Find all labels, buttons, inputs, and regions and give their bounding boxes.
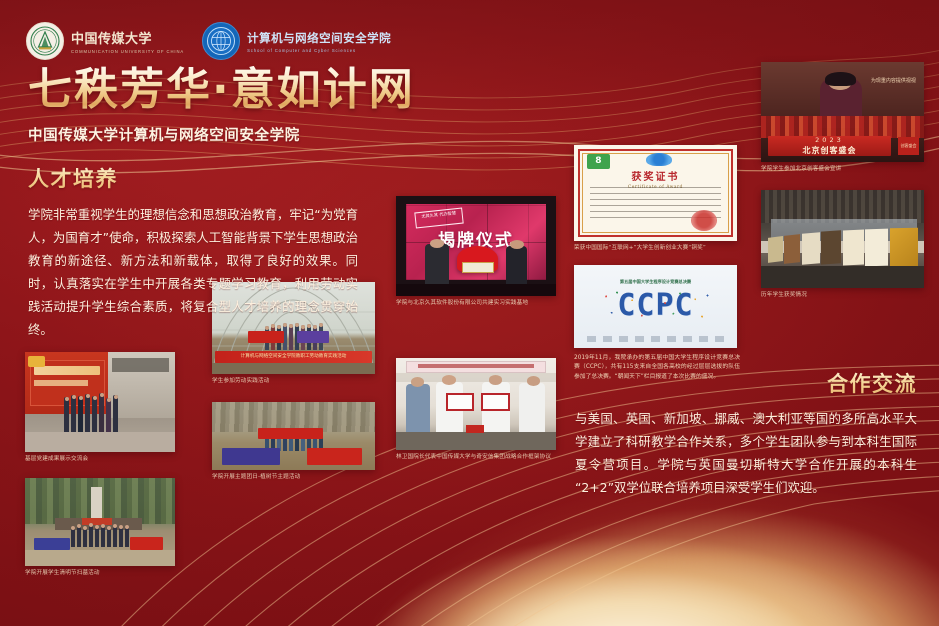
- section-talent-heading: 人才培养: [28, 163, 358, 193]
- photo-party-building-caption: 基层党建成果展示交流会: [25, 455, 175, 463]
- logo-bar: 中国传媒大学 COMMUNICATION UNIVERSITY OF CHINA…: [26, 22, 391, 60]
- photo-tree-planting-day-image: [212, 402, 375, 470]
- photo-award-certificate-caption: 荣获中国国际“互联网+”大学生创新创业大赛“铜奖”: [574, 244, 737, 252]
- photo-tree-planting-day: 学院开展主题团日-植树节主题活动: [212, 402, 375, 470]
- photo-maker-conference: 为现重内容提供视视 2023 北京创客盛会 创客盛会 学院学生参加北京创客盛会宣…: [761, 62, 924, 162]
- photo-award-certificate-image: 8 获奖证书 Certificate of Award: [574, 145, 737, 241]
- photo-signing-ceremony-caption: 林卫国院长代表中国传媒大学与奇安信集团战略合作框架协议: [396, 453, 556, 461]
- photo-award-certificate: 8 获奖证书 Certificate of Award 荣获中国国际“互联网+”…: [574, 145, 737, 241]
- ccpc-description: 2019年11月，我院承办的第五届中国大学生程序设计竞赛总决赛（CCPC），共有…: [574, 354, 740, 382]
- maker-note-text: 为现重内容提供视视: [871, 78, 916, 84]
- photo-award-display: 历年学生获奖情况: [761, 190, 924, 288]
- page-title: 七秩芳华·意如计网: [28, 66, 415, 114]
- cuc-logo: 中国传媒大学 COMMUNICATION UNIVERSITY OF CHINA: [26, 22, 184, 60]
- page-subtitle: 中国传媒大学计算机与网络空间安全学院: [28, 124, 415, 145]
- photo-party-building: 基层党建成果展示交流会: [25, 352, 175, 452]
- photo-unveiling-ceremony: 尤其久其 代办智慧 揭牌仪式 学院与北京久其软件股份有限公司共建实习实践基地: [396, 196, 556, 296]
- photo-maker-conference-image: 为现重内容提供视视 2023 北京创客盛会 创客盛会: [761, 62, 924, 162]
- section-talent-body: 学院非常重视学生的理想信念和思想政治教育，牢记“为党育人，为国育才”使命，积极探…: [28, 204, 358, 342]
- photo-signing-ceremony: 林卫国院长代表中国传媒大学与奇安信集团战略合作框架协议: [396, 358, 556, 450]
- school-logo: 计算机与网络空间安全学院 School of Computer and Cybe…: [202, 22, 391, 60]
- cuc-logo-en: COMMUNICATION UNIVERSITY OF CHINA: [71, 49, 184, 55]
- section-cooperation: 合作交流 与美国、英国、新加坡、挪威、澳大利亚等国的多所高水平大学建立了科研教学…: [575, 368, 917, 500]
- maker-year-text: 2023: [815, 136, 844, 144]
- photo-qingming-memorial-image: [25, 478, 175, 566]
- poster-root: 中国传媒大学 COMMUNICATION UNIVERSITY OF CHINA…: [0, 0, 939, 626]
- school-logo-text: 计算机与网络空间安全学院 School of Computer and Cybe…: [247, 30, 391, 53]
- photo-qingming-memorial-caption: 学院开展学生清明节扫墓活动: [25, 569, 175, 577]
- photo-unveiling-ceremony-caption: 学院与北京久其软件股份有限公司共建实习实践基地: [396, 299, 556, 307]
- photo-ccpc-competition: 第五届中国大学生程序设计竞赛总决赛 CCPC: [574, 265, 737, 348]
- labor-banner-text: 计算机与网络空间安全学院教职工劳动教育实践活动: [215, 351, 371, 362]
- school-logo-en: School of Computer and Cyber Sciences: [247, 47, 391, 53]
- photo-labor-practice-caption: 学生参加劳动实践活动: [212, 377, 375, 385]
- photo-qingming-memorial: 学院开展学生清明节扫墓活动: [25, 478, 175, 566]
- school-logo-cn: 计算机与网络空间安全学院: [247, 30, 391, 46]
- masthead: 七秩芳华·意如计网 中国传媒大学计算机与网络空间安全学院: [28, 66, 415, 145]
- photo-party-building-image: [25, 352, 175, 452]
- certificate-badge: 8: [595, 156, 601, 166]
- maker-corner-text: 创客盛会: [901, 144, 917, 148]
- photo-signing-ceremony-image: [396, 358, 556, 450]
- photo-award-display-image: [761, 190, 924, 288]
- cuc-logo-cn: 中国传媒大学: [71, 28, 184, 47]
- photo-ccpc-competition-image: 第五届中国大学生程序设计竞赛总决赛 CCPC: [574, 265, 737, 348]
- section-cooperation-body: 与美国、英国、新加坡、挪威、澳大利亚等国的多所高水平大学建立了科研教学合作关系，…: [575, 408, 917, 500]
- photo-award-display-caption: 历年学生获奖情况: [761, 291, 924, 299]
- school-emblem-icon: [202, 22, 240, 60]
- photo-unveiling-ceremony-image: 尤其久其 代办智慧 揭牌仪式: [396, 196, 556, 296]
- certificate-title: 获奖证书: [574, 168, 737, 183]
- photo-tree-planting-day-caption: 学院开展主题团日-植树节主题活动: [212, 473, 375, 481]
- photo-maker-conference-caption: 学院学生参加北京创客盛会宣讲: [761, 165, 924, 173]
- section-talent: 人才培养 学院非常重视学生的理想信念和思想政治教育，牢记“为党育人，为国育才”使…: [28, 163, 358, 342]
- maker-event-text: 北京创客盛会: [802, 145, 856, 156]
- cuc-emblem-icon: [26, 22, 64, 60]
- cuc-logo-text: 中国传媒大学 COMMUNICATION UNIVERSITY OF CHINA: [71, 28, 184, 54]
